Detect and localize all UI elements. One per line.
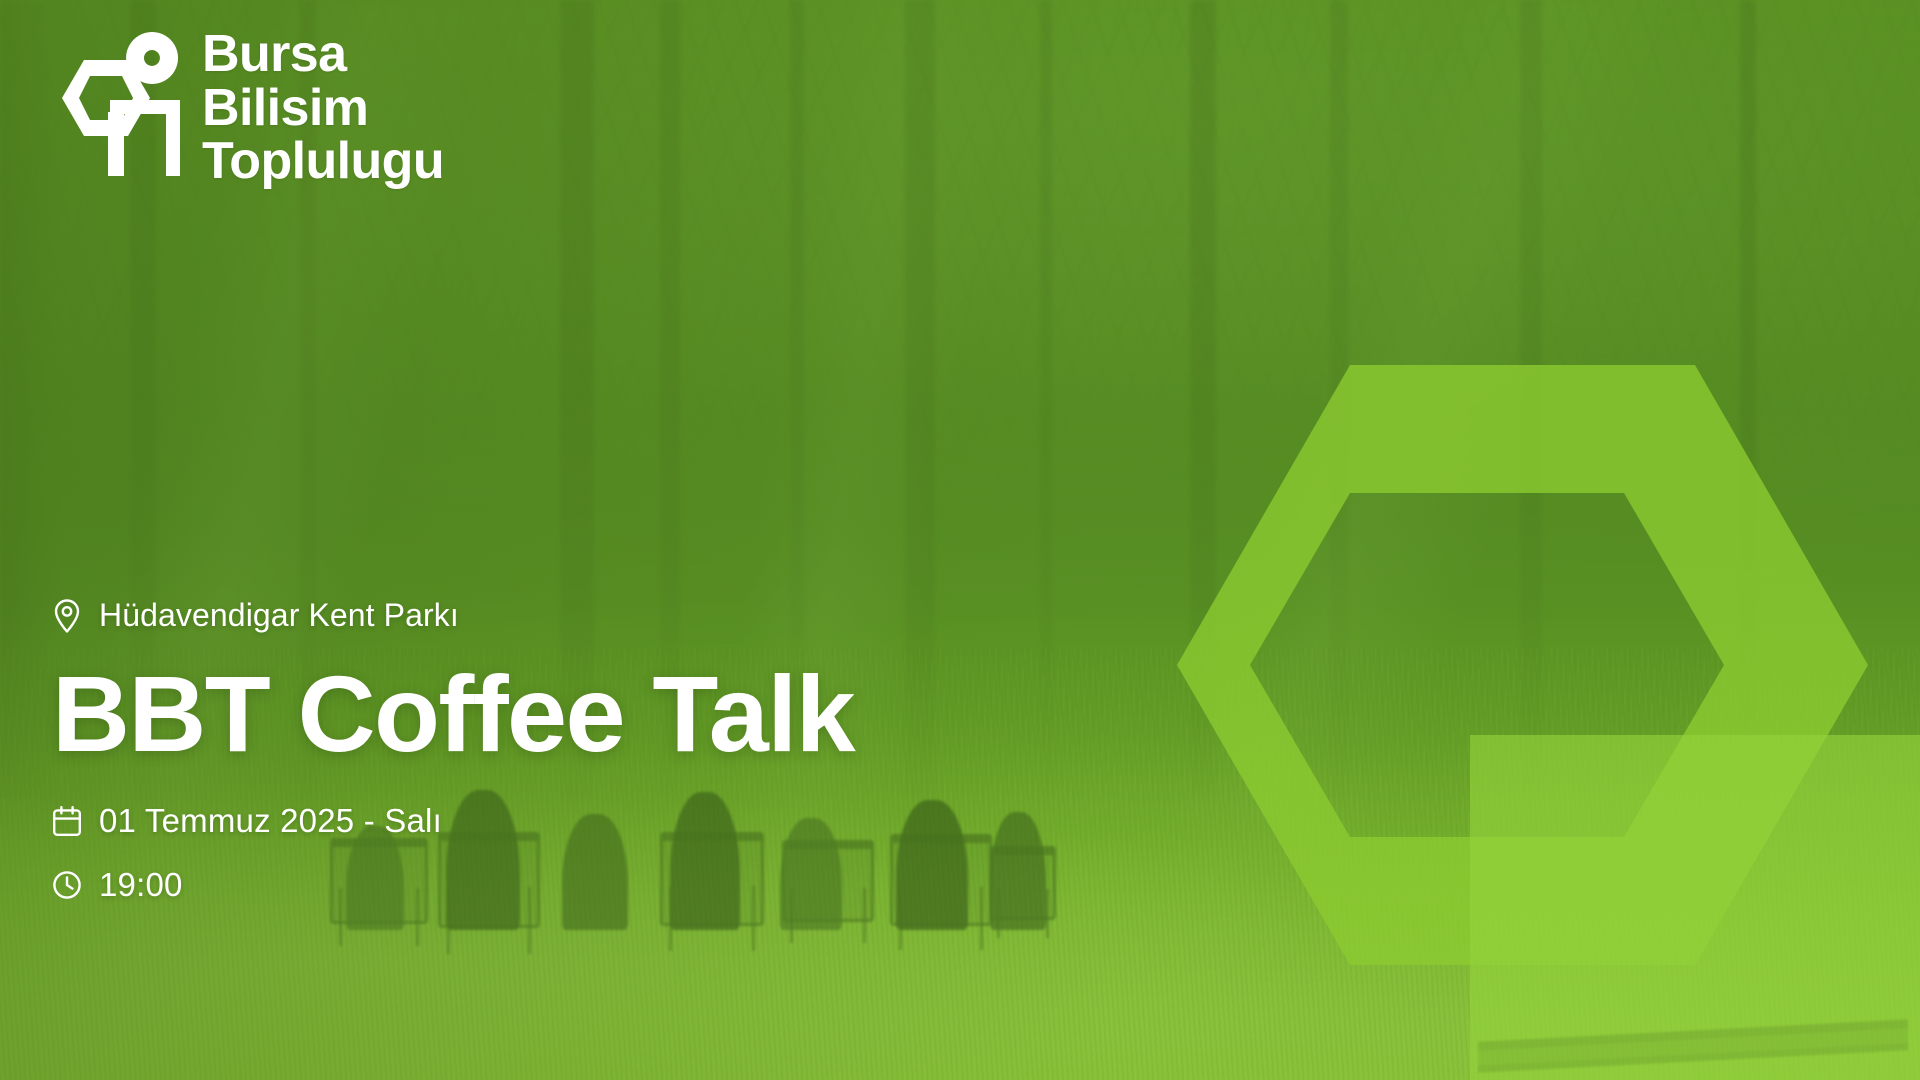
event-banner: Bursa Bilisim Toplulugu Hüdavendigar Ken…	[0, 0, 1920, 1080]
time-label: 19:00	[99, 866, 183, 904]
page-title: BBT Coffee Talk	[52, 660, 854, 768]
brand-line-3: Toplulugu	[202, 135, 444, 189]
venue-label: Hüdavendigar Kent Parkı	[99, 597, 459, 634]
calendar-icon	[52, 805, 82, 837]
brand-line-2: Bilisim	[202, 82, 444, 136]
event-info: Hüdavendigar Kent Parkı BBT Coffee Talk …	[52, 597, 854, 904]
datetime-block: 01 Temmuz 2025 - Salı 19:00	[52, 802, 854, 904]
map-pin-icon	[52, 598, 82, 634]
brand-name: Bursa Bilisim Toplulugu	[202, 26, 444, 189]
brand-line-1: Bursa	[202, 28, 444, 82]
date-label: 01 Temmuz 2025 - Salı	[99, 802, 442, 840]
date-row: 01 Temmuz 2025 - Salı	[52, 802, 854, 840]
clock-icon	[52, 870, 82, 900]
time-row: 19:00	[52, 866, 854, 904]
venue-row: Hüdavendigar Kent Parkı	[52, 597, 854, 634]
brand-lockup: Bursa Bilisim Toplulugu	[52, 26, 444, 189]
bbt-hexagon-person-logo-icon	[52, 26, 180, 176]
